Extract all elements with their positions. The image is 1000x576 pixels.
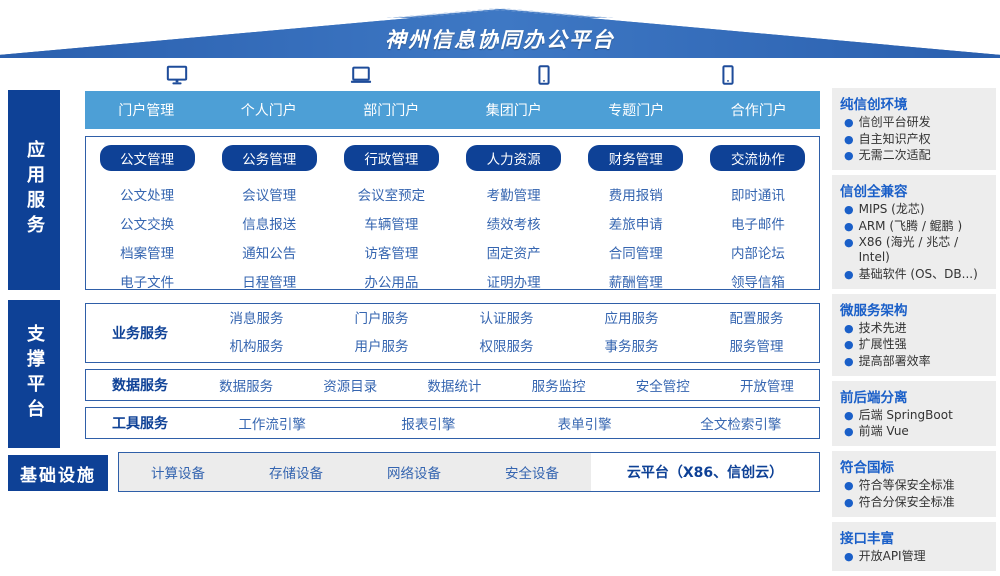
app-item[interactable]: 办公用品 <box>364 271 418 291</box>
app-item[interactable]: 公文处理 <box>120 184 174 204</box>
app-category-pill[interactable]: 人力资源 <box>466 145 561 171</box>
infrastructure-item[interactable]: 网络设备 <box>355 462 473 482</box>
service-item[interactable]: 服务监控 <box>507 375 611 395</box>
feature-sidebar: 纯信创环境 ●信创平台研发 ●自主知识产权 ●无需二次适配 信创全兼容 ●MIP… <box>832 88 996 576</box>
app-column: 人力资源 考勤管理 绩效考核 固定资产 证明办理 <box>453 137 575 289</box>
app-item[interactable]: 薪酬管理 <box>609 271 663 291</box>
bullet-icon: ● <box>844 478 854 493</box>
app-item[interactable]: 信息报送 <box>242 213 296 233</box>
portal-item[interactable]: 合作门户 <box>698 100 821 120</box>
header-banner: 神州信息协同办公平台 <box>0 0 1000 58</box>
phone-icon <box>636 64 820 86</box>
laptop-icon <box>269 64 453 86</box>
service-item[interactable]: 安全管控 <box>611 375 715 395</box>
bullet-icon: ● <box>844 267 854 282</box>
sidebar-section-microservice: 微服务架构 ●技术先进 ●扩展性强 ●提高部署效率 <box>832 294 996 376</box>
service-item[interactable]: 消息服务 <box>194 305 319 333</box>
business-service-box: 业务服务 消息服务 门户服务 认证服务 应用服务 配置服务 机构服务 用户服务 … <box>85 303 820 363</box>
rail-support-platform: 支撑平台 <box>8 300 60 448</box>
bullet-icon: ● <box>844 354 854 369</box>
sidebar-section-title: 接口丰富 <box>840 527 988 547</box>
sidebar-list-item: ●技术先进 <box>840 321 988 336</box>
app-item[interactable]: 公文交换 <box>120 213 174 233</box>
service-item[interactable]: 用户服务 <box>319 333 444 361</box>
bullet-icon: ● <box>844 235 854 250</box>
bullet-icon: ● <box>844 424 854 439</box>
infrastructure-devices: 计算设备 存储设备 网络设备 安全设备 <box>119 453 591 491</box>
app-item[interactable]: 日程管理 <box>242 271 296 291</box>
sidebar-item-label: 后端 SpringBoot <box>859 408 953 423</box>
sidebar-section-title: 信创全兼容 <box>840 180 988 200</box>
device-icon-row <box>85 58 820 91</box>
app-item[interactable]: 档案管理 <box>120 242 174 262</box>
portal-item[interactable]: 个人门户 <box>208 100 331 120</box>
app-item[interactable]: 会议管理 <box>242 184 296 204</box>
infrastructure-item[interactable]: 计算设备 <box>119 462 237 482</box>
bullet-icon: ● <box>844 495 854 510</box>
service-item[interactable]: 工作流引擎 <box>194 413 350 433</box>
sidebar-item-label: 无需二次适配 <box>859 148 931 163</box>
sidebar-list-item: ●后端 SpringBoot <box>840 408 988 423</box>
service-item[interactable]: 表单引擎 <box>507 413 663 433</box>
sidebar-item-label: 符合等保安全标准 <box>859 478 955 493</box>
infrastructure-box: 计算设备 存储设备 网络设备 安全设备 云平台（X86、信创云） <box>118 452 820 492</box>
app-column: 公文管理 公文处理 公文交换 档案管理 电子文件 <box>86 137 208 289</box>
app-column: 行政管理 会议室预定 车辆管理 访客管理 办公用品 <box>330 137 452 289</box>
app-item[interactable]: 合同管理 <box>609 242 663 262</box>
roof-shape <box>0 0 1000 58</box>
tool-service-box: 工具服务 工作流引擎 报表引擎 表单引擎 全文检索引擎 <box>85 407 820 439</box>
app-item[interactable]: 证明办理 <box>487 271 541 291</box>
sidebar-item-label: 自主知识产权 <box>859 132 931 147</box>
bullet-icon: ● <box>844 337 854 352</box>
sidebar-item-label: 前端 Vue <box>859 424 909 439</box>
desktop-icon <box>85 64 269 86</box>
tool-service-label: 工具服务 <box>86 413 194 433</box>
sidebar-item-label: 基础软件 (OS、DB...) <box>859 267 978 282</box>
sidebar-section-title: 微服务架构 <box>840 299 988 319</box>
service-item[interactable]: 资源目录 <box>298 375 402 395</box>
sidebar-list-item: ●ARM (飞腾 / 鲲鹏 ) <box>840 219 988 234</box>
infrastructure-item[interactable]: 存储设备 <box>237 462 355 482</box>
sidebar-item-label: 扩展性强 <box>859 337 907 352</box>
app-category-pill[interactable]: 公务管理 <box>222 145 317 171</box>
sidebar-section-title: 符合国标 <box>840 456 988 476</box>
app-item[interactable]: 电子邮件 <box>731 213 785 233</box>
sidebar-list-item: ●自主知识产权 <box>840 132 988 147</box>
app-item[interactable]: 费用报销 <box>609 184 663 204</box>
portal-item[interactable]: 集团门户 <box>453 100 576 120</box>
bullet-icon: ● <box>844 321 854 336</box>
portal-item[interactable]: 部门门户 <box>330 100 453 120</box>
rail-application-service: 应用服务 <box>8 90 60 290</box>
sidebar-list-item: ●信创平台研发 <box>840 115 988 130</box>
sidebar-item-label: 提高部署效率 <box>859 354 931 369</box>
app-category-pill[interactable]: 交流协作 <box>710 145 805 171</box>
app-item[interactable]: 固定资产 <box>487 242 541 262</box>
app-column: 财务管理 费用报销 差旅申请 合同管理 薪酬管理 <box>575 137 697 289</box>
sidebar-list-item: ●MIPS (龙芯) <box>840 202 988 217</box>
portal-bar: 门户管理 个人门户 部门门户 集团门户 专题门户 合作门户 <box>85 91 820 129</box>
app-item[interactable]: 领导信箱 <box>731 271 785 291</box>
portal-item[interactable]: 专题门户 <box>575 100 698 120</box>
service-item[interactable]: 开放管理 <box>715 375 819 395</box>
bullet-icon: ● <box>844 115 854 130</box>
infrastructure-item[interactable]: 安全设备 <box>473 462 591 482</box>
sidebar-item-label: X86 (海光 / 兆芯 / Intel) <box>859 235 988 265</box>
service-item[interactable]: 认证服务 <box>444 305 569 333</box>
app-category-pill[interactable]: 财务管理 <box>588 145 683 171</box>
app-column: 公务管理 会议管理 信息报送 通知公告 日程管理 <box>208 137 330 289</box>
cloud-platform-item[interactable]: 云平台（X86、信创云） <box>591 462 819 482</box>
app-category-pill[interactable]: 行政管理 <box>344 145 439 171</box>
app-item[interactable]: 车辆管理 <box>364 213 418 233</box>
sidebar-section-frontend-backend-separation: 前后端分离 ●后端 SpringBoot ●前端 Vue <box>832 381 996 447</box>
sidebar-list-item: ●符合分保安全标准 <box>840 495 988 510</box>
sidebar-item-label: MIPS (龙芯) <box>859 202 925 217</box>
sidebar-item-label: 开放API管理 <box>859 549 926 564</box>
app-category-pill[interactable]: 公文管理 <box>100 145 195 171</box>
sidebar-list-item: ●基础软件 (OS、DB...) <box>840 267 988 282</box>
app-item[interactable]: 会议室预定 <box>358 184 426 204</box>
service-item[interactable]: 服务管理 <box>694 333 819 361</box>
service-item[interactable]: 数据服务 <box>194 375 298 395</box>
service-item[interactable]: 数据统计 <box>402 375 506 395</box>
sidebar-section-full-compatibility: 信创全兼容 ●MIPS (龙芯) ●ARM (飞腾 / 鲲鹏 ) ●X86 (海… <box>832 175 996 289</box>
app-item[interactable]: 考勤管理 <box>487 184 541 204</box>
portal-item[interactable]: 门户管理 <box>85 100 208 120</box>
phone-icon <box>453 64 637 86</box>
sidebar-list-item: ●无需二次适配 <box>840 148 988 163</box>
bullet-icon: ● <box>844 132 854 147</box>
service-item[interactable]: 事务服务 <box>569 333 694 361</box>
sidebar-list-item: ●符合等保安全标准 <box>840 478 988 493</box>
sidebar-item-label: 技术先进 <box>859 321 907 336</box>
application-service-panel: 公文管理 公文处理 公文交换 档案管理 电子文件 公务管理 会议管理 信息报送 … <box>85 136 820 290</box>
sidebar-list-item: ●开放API管理 <box>840 549 988 564</box>
service-item[interactable]: 配置服务 <box>694 305 819 333</box>
sidebar-item-label: 信创平台研发 <box>859 115 931 130</box>
sidebar-list-item: ●X86 (海光 / 兆芯 / Intel) <box>840 235 988 265</box>
sidebar-section-rich-api: 接口丰富 ●开放API管理 <box>832 522 996 571</box>
service-item[interactable]: 门户服务 <box>319 305 444 333</box>
business-service-label: 业务服务 <box>86 323 194 343</box>
app-item[interactable]: 绩效考核 <box>487 213 541 233</box>
sidebar-section-national-standard: 符合国标 ●符合等保安全标准 ●符合分保安全标准 <box>832 451 996 517</box>
bullet-icon: ● <box>844 219 854 234</box>
service-item[interactable]: 全文检索引擎 <box>663 413 819 433</box>
sidebar-section-title: 纯信创环境 <box>840 93 988 113</box>
service-item[interactable]: 报表引擎 <box>350 413 506 433</box>
app-item[interactable]: 差旅申请 <box>609 213 663 233</box>
app-item[interactable]: 通知公告 <box>242 242 296 262</box>
service-item[interactable]: 机构服务 <box>194 333 319 361</box>
app-item[interactable]: 内部论坛 <box>731 242 785 262</box>
data-service-label: 数据服务 <box>86 375 194 395</box>
sidebar-item-label: 符合分保安全标准 <box>859 495 955 510</box>
sidebar-item-label: ARM (飞腾 / 鲲鹏 ) <box>859 219 963 234</box>
data-service-box: 数据服务 数据服务 资源目录 数据统计 服务监控 安全管控 开放管理 <box>85 369 820 401</box>
rail-infrastructure: 基础设施 <box>8 455 108 491</box>
sidebar-section-pure-xinchuang: 纯信创环境 ●信创平台研发 ●自主知识产权 ●无需二次适配 <box>832 88 996 170</box>
bullet-icon: ● <box>844 549 854 564</box>
sidebar-list-item: ●前端 Vue <box>840 424 988 439</box>
service-item[interactable]: 应用服务 <box>569 305 694 333</box>
app-item[interactable]: 访客管理 <box>364 242 418 262</box>
app-item[interactable]: 即时通讯 <box>731 184 785 204</box>
sidebar-list-item: ●扩展性强 <box>840 337 988 352</box>
app-column: 交流协作 即时通讯 电子邮件 内部论坛 领导信箱 <box>697 137 819 289</box>
sidebar-list-item: ●提高部署效率 <box>840 354 988 369</box>
app-item[interactable]: 电子文件 <box>120 271 174 291</box>
bullet-icon: ● <box>844 202 854 217</box>
bullet-icon: ● <box>844 148 854 163</box>
sidebar-section-title: 前后端分离 <box>840 386 988 406</box>
bullet-icon: ● <box>844 408 854 423</box>
service-item[interactable]: 权限服务 <box>444 333 569 361</box>
